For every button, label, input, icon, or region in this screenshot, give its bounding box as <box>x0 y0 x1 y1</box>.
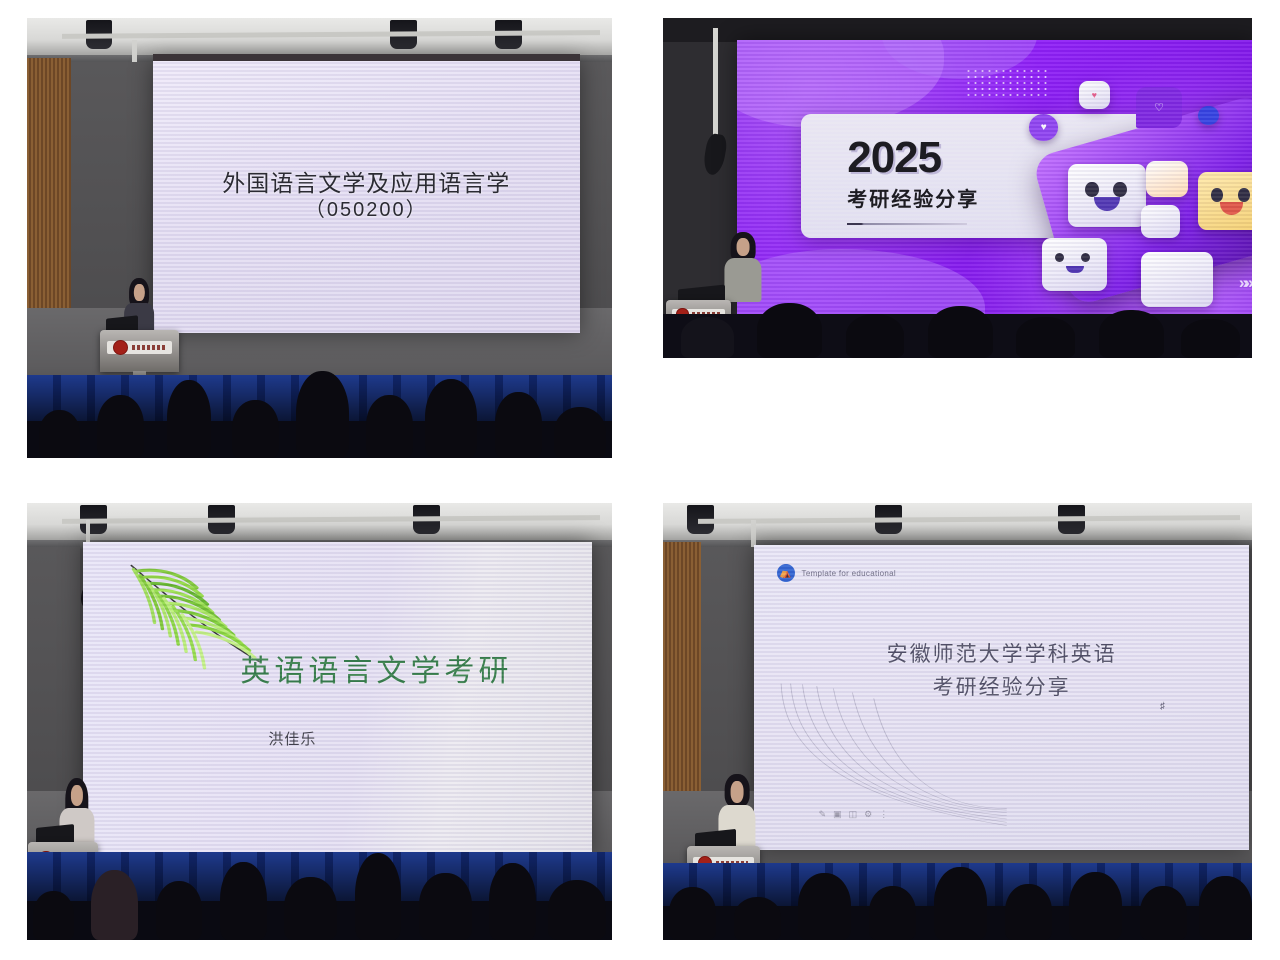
audience-head <box>97 395 144 458</box>
led-screen: 2025 考研经验分享 <box>737 40 1252 315</box>
eye <box>1238 188 1249 202</box>
panel-top-left: 外国语言文学及应用语言学 （050200） <box>27 18 612 458</box>
slide-title-block: 外国语言文学及应用语言学 （050200） <box>222 169 510 223</box>
audience-head <box>1199 876 1252 940</box>
chevron-right-icon: »» <box>1239 273 1250 293</box>
audience-head <box>681 317 734 358</box>
audience-head <box>284 877 337 940</box>
projection-screen: 英语语言文学考研 洪佳乐 <box>83 542 592 857</box>
audience-area <box>663 879 1252 940</box>
slide-content: 2025 考研经验分享 <box>737 40 1252 315</box>
audience-head <box>1140 886 1187 940</box>
presenter-face <box>737 238 750 256</box>
audience-head <box>757 303 822 358</box>
heart-tile-icon: ♥ <box>1079 81 1110 109</box>
lecture-hall-scene: 外国语言文学及应用语言学 （050200） <box>27 18 612 458</box>
audience-head <box>296 371 349 458</box>
projection-screen: ⛺ Template for educational <box>754 545 1249 851</box>
eye <box>1081 253 1090 262</box>
emoji-tile-icon <box>1068 164 1146 227</box>
audience-head <box>232 400 279 458</box>
audience-head <box>548 880 607 940</box>
more-icon[interactable]: ⋮ <box>879 809 888 820</box>
slide-year: 2025 <box>847 133 941 183</box>
audience-head <box>39 410 80 458</box>
presentation-toolbar[interactable]: ✎ ▣ ◫ ⚙ ⋮ <box>819 809 889 820</box>
slide-title-line1: 外国语言文学及应用语言学 <box>222 169 510 198</box>
slide-presenter-name: 洪佳乐 <box>268 728 316 749</box>
slide-brand: ⛺ Template for educational <box>777 564 896 582</box>
clock-tile-icon <box>1141 205 1180 238</box>
audience-head <box>33 891 74 940</box>
slide-subtitle: 考研经验分享 <box>847 183 979 212</box>
lecture-hall-scene: 2025 考研经验分享 <box>663 18 1252 358</box>
institution-icon: ⛺ <box>777 564 795 582</box>
audience-head <box>734 897 781 940</box>
audience-head <box>366 395 413 458</box>
settings-icon[interactable]: ⚙ <box>864 809 872 820</box>
audience-head <box>495 392 542 458</box>
audience-head <box>1005 884 1052 940</box>
audience-head <box>669 887 716 940</box>
audience-head <box>934 867 987 940</box>
presenter <box>731 232 756 300</box>
audience-area <box>663 314 1252 358</box>
slide-title-line2: 考研经验分享 <box>754 672 1249 705</box>
app-tile-icon <box>1146 161 1187 197</box>
audience-head <box>928 306 993 358</box>
university-emblem-icon <box>113 340 128 355</box>
audience-area <box>27 392 612 458</box>
audience-area <box>27 870 612 940</box>
presenter-body <box>725 258 762 302</box>
projector-mount <box>713 28 718 144</box>
audience-head <box>554 407 607 458</box>
audience-head <box>91 870 138 940</box>
slide-title: 安徽师范大学学科英语 考研经验分享 <box>754 639 1249 704</box>
podium-plaque <box>107 341 172 354</box>
audience-head <box>156 881 203 940</box>
audience-head <box>1069 872 1122 941</box>
heart-icon: ♥ <box>1029 114 1058 140</box>
projection-screen: 外国语言文学及应用语言学 （050200） <box>153 60 580 333</box>
audience-head <box>1181 319 1240 358</box>
audience-head <box>1016 317 1075 358</box>
cursor-icon: ♯ <box>1160 701 1165 712</box>
slide-brand-text: Template for educational <box>802 569 896 578</box>
university-name-text <box>132 345 167 349</box>
audience-head <box>846 314 905 358</box>
eye <box>1113 182 1126 197</box>
slide-title: 英语语言文学考研 <box>240 646 512 690</box>
eye <box>1055 253 1064 262</box>
slide-rule <box>847 223 967 225</box>
podium <box>100 330 179 372</box>
dot-badge-icon <box>1198 106 1219 125</box>
eye <box>1211 188 1222 202</box>
audience-head <box>489 863 536 940</box>
projector-icon <box>702 132 729 176</box>
eye <box>1085 182 1098 197</box>
slide-content: 英语语言文学考研 洪佳乐 <box>83 542 592 857</box>
presenter-face <box>71 785 83 805</box>
emoji-tile-icon <box>1198 172 1252 230</box>
lecture-hall-scene: ⛺ Template for educational <box>663 503 1252 940</box>
panel-top-right: 2025 考研经验分享 <box>663 18 1252 358</box>
audience-head <box>869 886 916 940</box>
crop-icon[interactable]: ▣ <box>833 809 842 820</box>
screen-icon[interactable]: ◫ <box>849 809 858 820</box>
dot-pattern <box>965 68 1048 98</box>
panel-bottom-right: ⛺ Template for educational <box>663 503 1252 940</box>
audience-head <box>355 853 402 940</box>
smile <box>1220 202 1243 215</box>
lecture-hall-scene: 英语语言文学考研 洪佳乐 <box>27 503 612 940</box>
slide-content: ⛺ Template for educational <box>754 545 1249 851</box>
audience-head <box>1099 310 1164 358</box>
pen-icon[interactable]: ✎ <box>819 809 827 820</box>
slide-content: 外国语言文学及应用语言学 （050200） <box>153 60 580 333</box>
audience-head <box>419 873 472 940</box>
audience-head <box>798 873 851 940</box>
ceiling-beam <box>663 18 1252 42</box>
audience-head <box>220 862 267 940</box>
emoji-tile-icon <box>1042 238 1107 290</box>
smile <box>1066 266 1084 273</box>
slide-title-line2: （050200） <box>222 198 510 223</box>
heart-bubble-icon: ♡ <box>1136 87 1183 128</box>
audience-head <box>425 379 478 458</box>
smile <box>1094 197 1120 211</box>
photo-collage: 外国语言文学及应用语言学 （050200） <box>0 0 1280 960</box>
panel-bottom-left: 英语语言文学考研 洪佳乐 <box>27 503 612 940</box>
audience-head <box>167 380 211 458</box>
screen-top-bar <box>153 54 580 61</box>
balloon-tile-icon <box>1141 252 1214 307</box>
presenter-face <box>731 781 744 803</box>
slide-title-line1: 安徽师范大学学科英语 <box>754 639 1249 672</box>
